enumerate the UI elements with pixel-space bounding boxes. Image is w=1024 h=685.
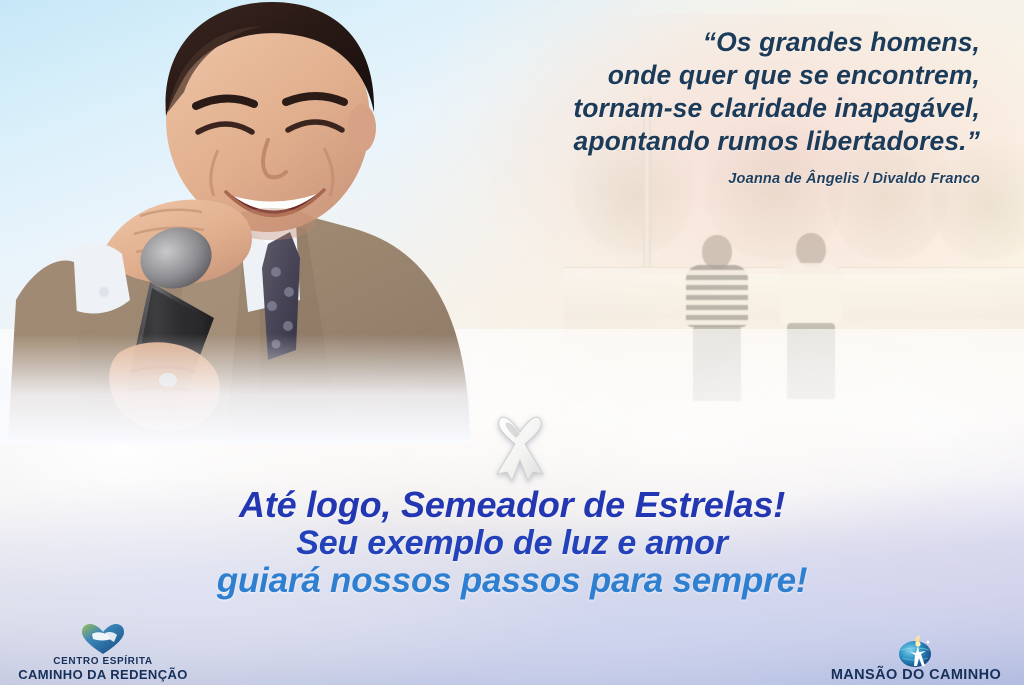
headline-line-3: guiará nossos passos para sempre!	[0, 562, 1024, 600]
quote-attribution: Joanna de Ângelis / Divaldo Franco	[400, 171, 980, 187]
headline-message: Até logo, Semeador de Estrelas! Seu exem…	[0, 486, 1024, 600]
white-mourning-ribbon-icon	[489, 410, 551, 482]
quote-line-2: onde quer que se encontrem,	[400, 59, 980, 92]
heart-hands-icon	[8, 622, 198, 656]
logo-mansao-do-caminho: MANSÃO DO CAMINHO	[816, 635, 1016, 682]
logo-right-line-2: MANSÃO DO CAMINHO	[816, 669, 1016, 682]
logo-centro-espirita: CENTRO ESPÍRITA CAMINHO DA REDENÇÃO	[8, 622, 198, 681]
logo-right-text: MANSÃO DO CAMINHO	[816, 669, 1016, 682]
headline-line-1: Até logo, Semeador de Estrelas!	[0, 486, 1024, 524]
quote-line-3: tornam-se claridade inapagável,	[400, 92, 980, 125]
quote-text: “Os grandes homens, onde quer que se enc…	[400, 26, 980, 158]
quote-line-1: “Os grandes homens,	[400, 26, 980, 59]
headline-line-2: Seu exemplo de luz e amor	[0, 524, 1024, 562]
globe-figure-icon	[816, 635, 1016, 669]
memorial-poster: “Os grandes homens, onde quer que se enc…	[0, 0, 1024, 685]
logo-left-text: CENTRO ESPÍRITA CAMINHO DA REDENÇÃO	[8, 656, 198, 681]
logo-left-line-2: CAMINHO DA REDENÇÃO	[8, 669, 198, 682]
quote-line-4: apontando rumos libertadores.”	[400, 125, 980, 158]
